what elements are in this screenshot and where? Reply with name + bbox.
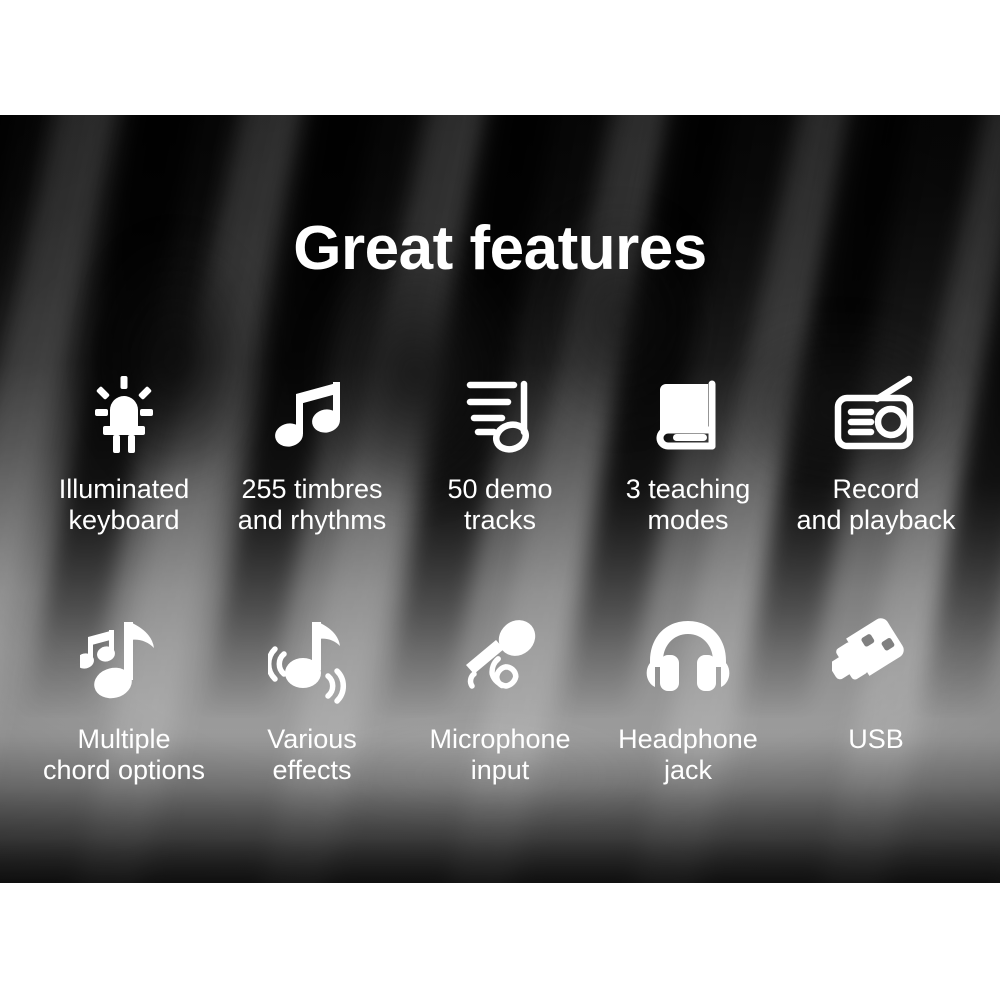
feature-demo-tracks[interactable]: 50 demo tracks bbox=[406, 370, 594, 537]
microphone-icon bbox=[454, 612, 546, 708]
radio-icon bbox=[830, 370, 922, 462]
feature-usb[interactable]: USB bbox=[782, 612, 970, 755]
feature-label: 3 teaching modes bbox=[626, 474, 751, 537]
feature-record-playback[interactable]: Record and playback bbox=[782, 370, 970, 537]
feature-teaching-modes[interactable]: 3 teaching modes bbox=[594, 370, 782, 537]
music-notes-icon bbox=[270, 370, 354, 462]
feature-row-2: Multiple chord options bbox=[30, 612, 970, 787]
feature-label: Microphone input bbox=[429, 724, 570, 787]
feature-microphone-input[interactable]: Microphone input bbox=[406, 612, 594, 787]
book-icon bbox=[646, 370, 730, 462]
feature-banner: Great features I bbox=[0, 0, 1000, 1000]
feature-label: 255 timbres and rhythms bbox=[238, 474, 387, 537]
chord-notes-icon bbox=[80, 612, 168, 708]
feature-label: USB bbox=[848, 724, 904, 755]
fast-note-icon bbox=[458, 370, 542, 462]
feature-illuminated-keyboard[interactable]: Illuminated keyboard bbox=[30, 370, 218, 537]
feature-label: Various effects bbox=[267, 724, 357, 787]
feature-label: Record and playback bbox=[796, 474, 955, 537]
feature-headphone-jack[interactable]: Headphone jack bbox=[594, 612, 782, 787]
led-light-icon bbox=[82, 370, 166, 462]
feature-label: Headphone jack bbox=[618, 724, 758, 787]
feature-chord-options[interactable]: Multiple chord options bbox=[30, 612, 218, 787]
feature-various-effects[interactable]: Various effects bbox=[218, 612, 406, 787]
feature-label: Illuminated keyboard bbox=[59, 474, 190, 537]
headphones-icon bbox=[642, 612, 734, 708]
feature-label: Multiple chord options bbox=[43, 724, 205, 787]
note-waves-icon bbox=[268, 612, 356, 708]
feature-label: 50 demo tracks bbox=[447, 474, 552, 537]
usb-plug-icon bbox=[832, 612, 920, 708]
feature-timbres-rhythms[interactable]: 255 timbres and rhythms bbox=[218, 370, 406, 537]
feature-row-1: Illuminated keyboard 255 timbres and rhy… bbox=[30, 370, 970, 537]
page-title: Great features bbox=[0, 218, 1000, 280]
